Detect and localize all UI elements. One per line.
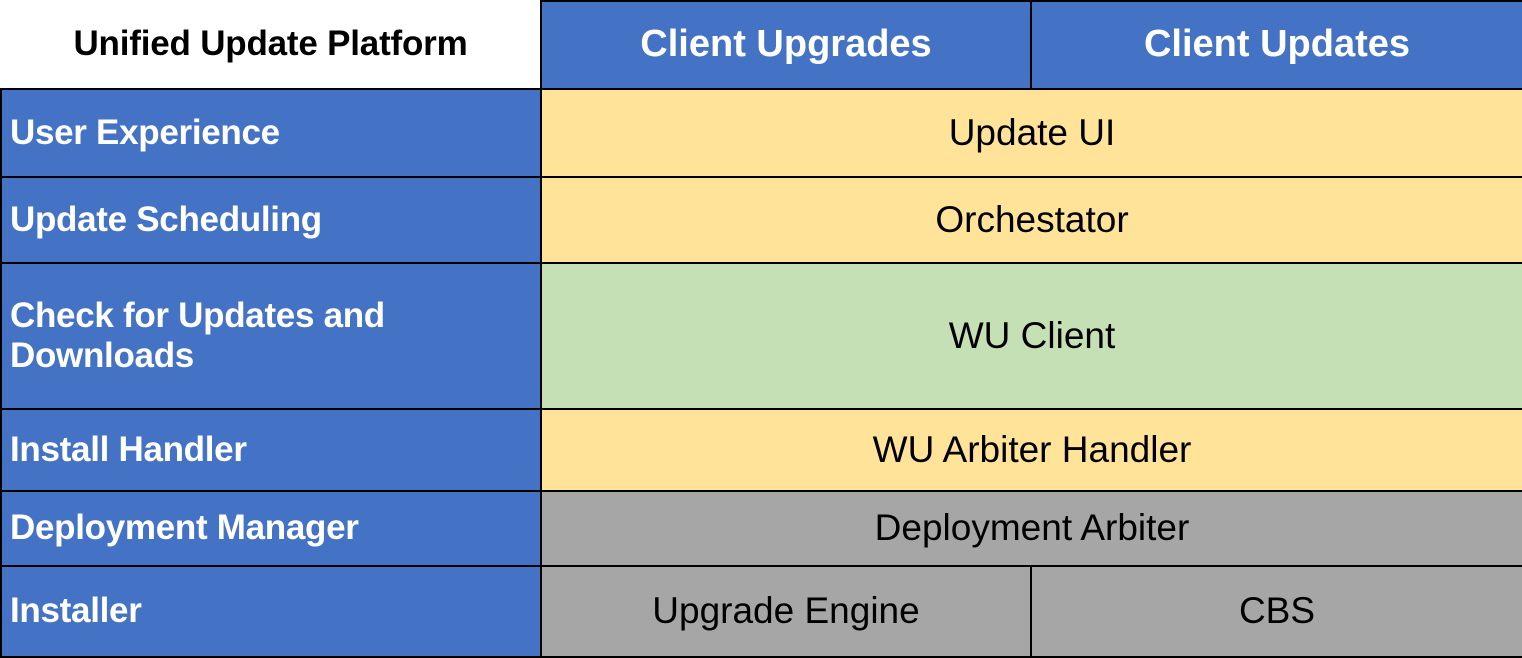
row-label-check-for-updates-and-downloads: Check for Updates and Downloads bbox=[1, 263, 541, 409]
cell-wu-arbiter-handler: WU Arbiter Handler bbox=[541, 409, 1522, 491]
row-label-install-handler: Install Handler bbox=[1, 409, 541, 491]
row-label-user-experience: User Experience bbox=[1, 89, 541, 177]
cell-orchestator: Orchestator bbox=[541, 177, 1522, 263]
column-header-client-updates: Client Updates bbox=[1031, 1, 1522, 89]
row-label-update-scheduling: Update Scheduling bbox=[1, 177, 541, 263]
table-row: Install Handler WU Arbiter Handler bbox=[1, 409, 1522, 491]
cell-cbs: CBS bbox=[1031, 566, 1522, 657]
unified-update-platform-matrix: Unified Update Platform Client Upgrades … bbox=[0, 0, 1522, 658]
table-row: Deployment Manager Deployment Arbiter bbox=[1, 491, 1522, 566]
cell-upgrade-engine: Upgrade Engine bbox=[541, 566, 1031, 657]
cell-wu-client: WU Client bbox=[541, 263, 1522, 409]
row-label-deployment-manager: Deployment Manager bbox=[1, 491, 541, 566]
table-row: Update Scheduling Orchestator bbox=[1, 177, 1522, 263]
column-header-client-upgrades: Client Upgrades bbox=[541, 1, 1031, 89]
table-header-row: Unified Update Platform Client Upgrades … bbox=[1, 1, 1522, 89]
table-row: User Experience Update UI bbox=[1, 89, 1522, 177]
cell-update-ui: Update UI bbox=[541, 89, 1522, 177]
page-title: Unified Update Platform bbox=[1, 1, 541, 89]
table-row: Check for Updates and Downloads WU Clien… bbox=[1, 263, 1522, 409]
cell-deployment-arbiter: Deployment Arbiter bbox=[541, 491, 1522, 566]
row-label-installer: Installer bbox=[1, 566, 541, 657]
table-row: Installer Upgrade Engine CBS bbox=[1, 566, 1522, 657]
